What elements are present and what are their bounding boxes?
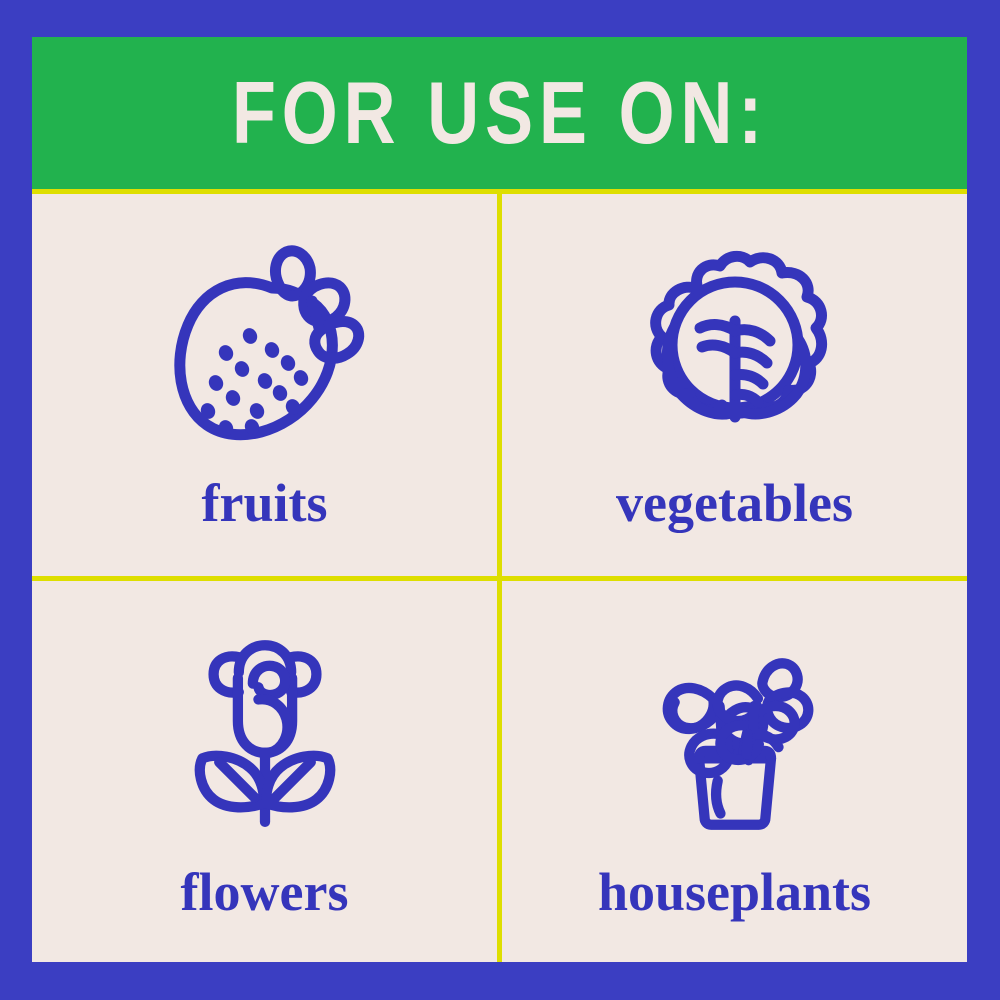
header-banner: FOR USE ON: <box>32 37 967 194</box>
rose-flower-icon <box>160 620 370 835</box>
grid-cell-houseplants[interactable]: houseplants <box>502 581 967 963</box>
poster-canvas: FOR USE ON: <box>0 0 1000 1000</box>
grid-cell-label-vegetables: vegetables <box>616 476 853 530</box>
potted-plant-icon <box>630 620 840 835</box>
grid-cell-fruits[interactable]: fruits <box>32 194 497 576</box>
grid-cell-label-flowers: flowers <box>181 865 349 919</box>
strawberry-icon <box>160 235 370 450</box>
grid-cell-label-fruits: fruits <box>202 476 328 530</box>
grid-cell-vegetables[interactable]: vegetables <box>502 194 967 576</box>
grid-cell-flowers[interactable]: flowers <box>32 581 497 963</box>
cabbage-icon <box>630 235 840 450</box>
usage-grid: fruits <box>32 194 967 962</box>
grid-cell-label-houseplants: houseplants <box>598 865 871 919</box>
page-title: FOR USE ON: <box>231 69 767 157</box>
info-card: FOR USE ON: <box>32 37 967 962</box>
